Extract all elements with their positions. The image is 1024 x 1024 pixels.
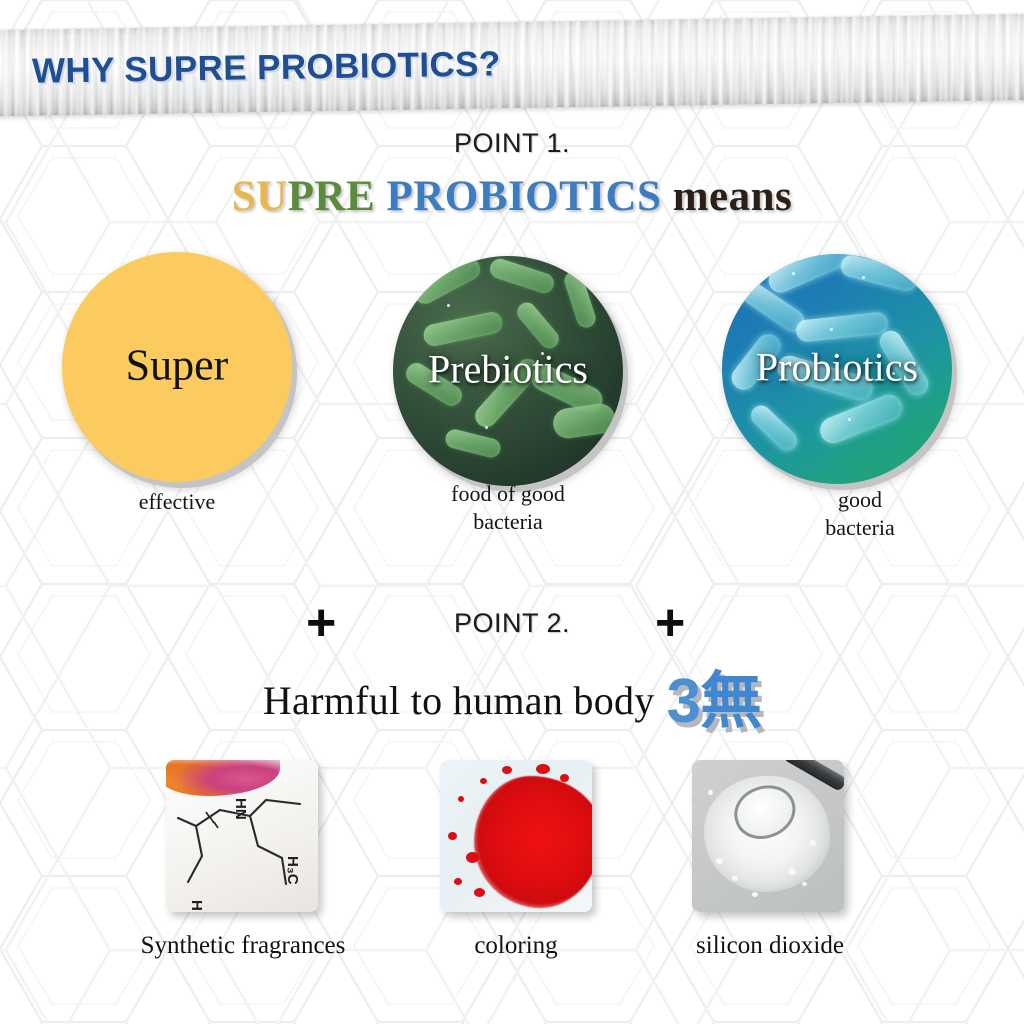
caption-prebiotics: food of goodbacteria — [393, 480, 623, 536]
caption-effective: effective — [62, 488, 292, 516]
headline-2-kanji: 無 — [700, 664, 761, 737]
headline-part-pre: PRE — [288, 173, 376, 220]
infographic-poster: WHY SUPRE PROBIOTICS? POINT 1. SUPRE PRO… — [0, 0, 1024, 1024]
page-title: WHY SUPRE PROBIOTICS? — [32, 44, 501, 91]
circle-super: Super — [62, 252, 292, 482]
circle-super-label: Super — [62, 339, 292, 390]
svg-text:HN: HN — [232, 798, 249, 820]
caption-probiotics: goodbacteria — [745, 486, 975, 542]
point-1-label: POINT 1. — [0, 128, 1024, 159]
caption-coloring: coloring — [400, 932, 632, 960]
point-1-headline: SUPRE PROBIOTICS means — [0, 172, 1024, 221]
circle-probiotics-label: Probiotics — [722, 344, 952, 391]
image-silicon-dioxide — [692, 760, 844, 912]
caption-synthetic-fragrances: Synthetic fragrances — [60, 932, 426, 960]
point-2-headline: Harmful to human body3無 — [0, 650, 1024, 740]
headline-part-su: SU — [232, 173, 288, 220]
caption-silicon-dioxide: silicon dioxide — [620, 932, 920, 960]
red-powder-pile — [474, 776, 592, 908]
headline-part-probiotics: PROBIOTICS — [375, 173, 661, 220]
header-banner: WHY SUPRE PROBIOTICS? — [0, 13, 1024, 116]
svg-text:H₃C: H₃C — [284, 856, 301, 885]
svg-text:H: H — [188, 900, 205, 911]
headline-2-text: Harmful to human body — [263, 678, 655, 723]
chemical-structure-icon: HN H₃C H — [166, 760, 318, 912]
headline-2-number: 3 — [667, 667, 700, 736]
circle-probiotics: Probiotics — [722, 254, 952, 484]
concept-circle-row: Super + — [0, 252, 1024, 482]
banner-metal-strip: WHY SUPRE PROBIOTICS? — [0, 13, 1024, 116]
image-coloring — [440, 760, 592, 912]
circle-prebiotics: Prebiotics — [393, 256, 623, 486]
image-synthetic-fragrances: HN H₃C H — [166, 760, 318, 912]
headline-part-means: means — [661, 173, 792, 220]
point-2-label: POINT 2. — [0, 608, 1024, 639]
circle-prebiotics-label: Prebiotics — [393, 346, 623, 393]
